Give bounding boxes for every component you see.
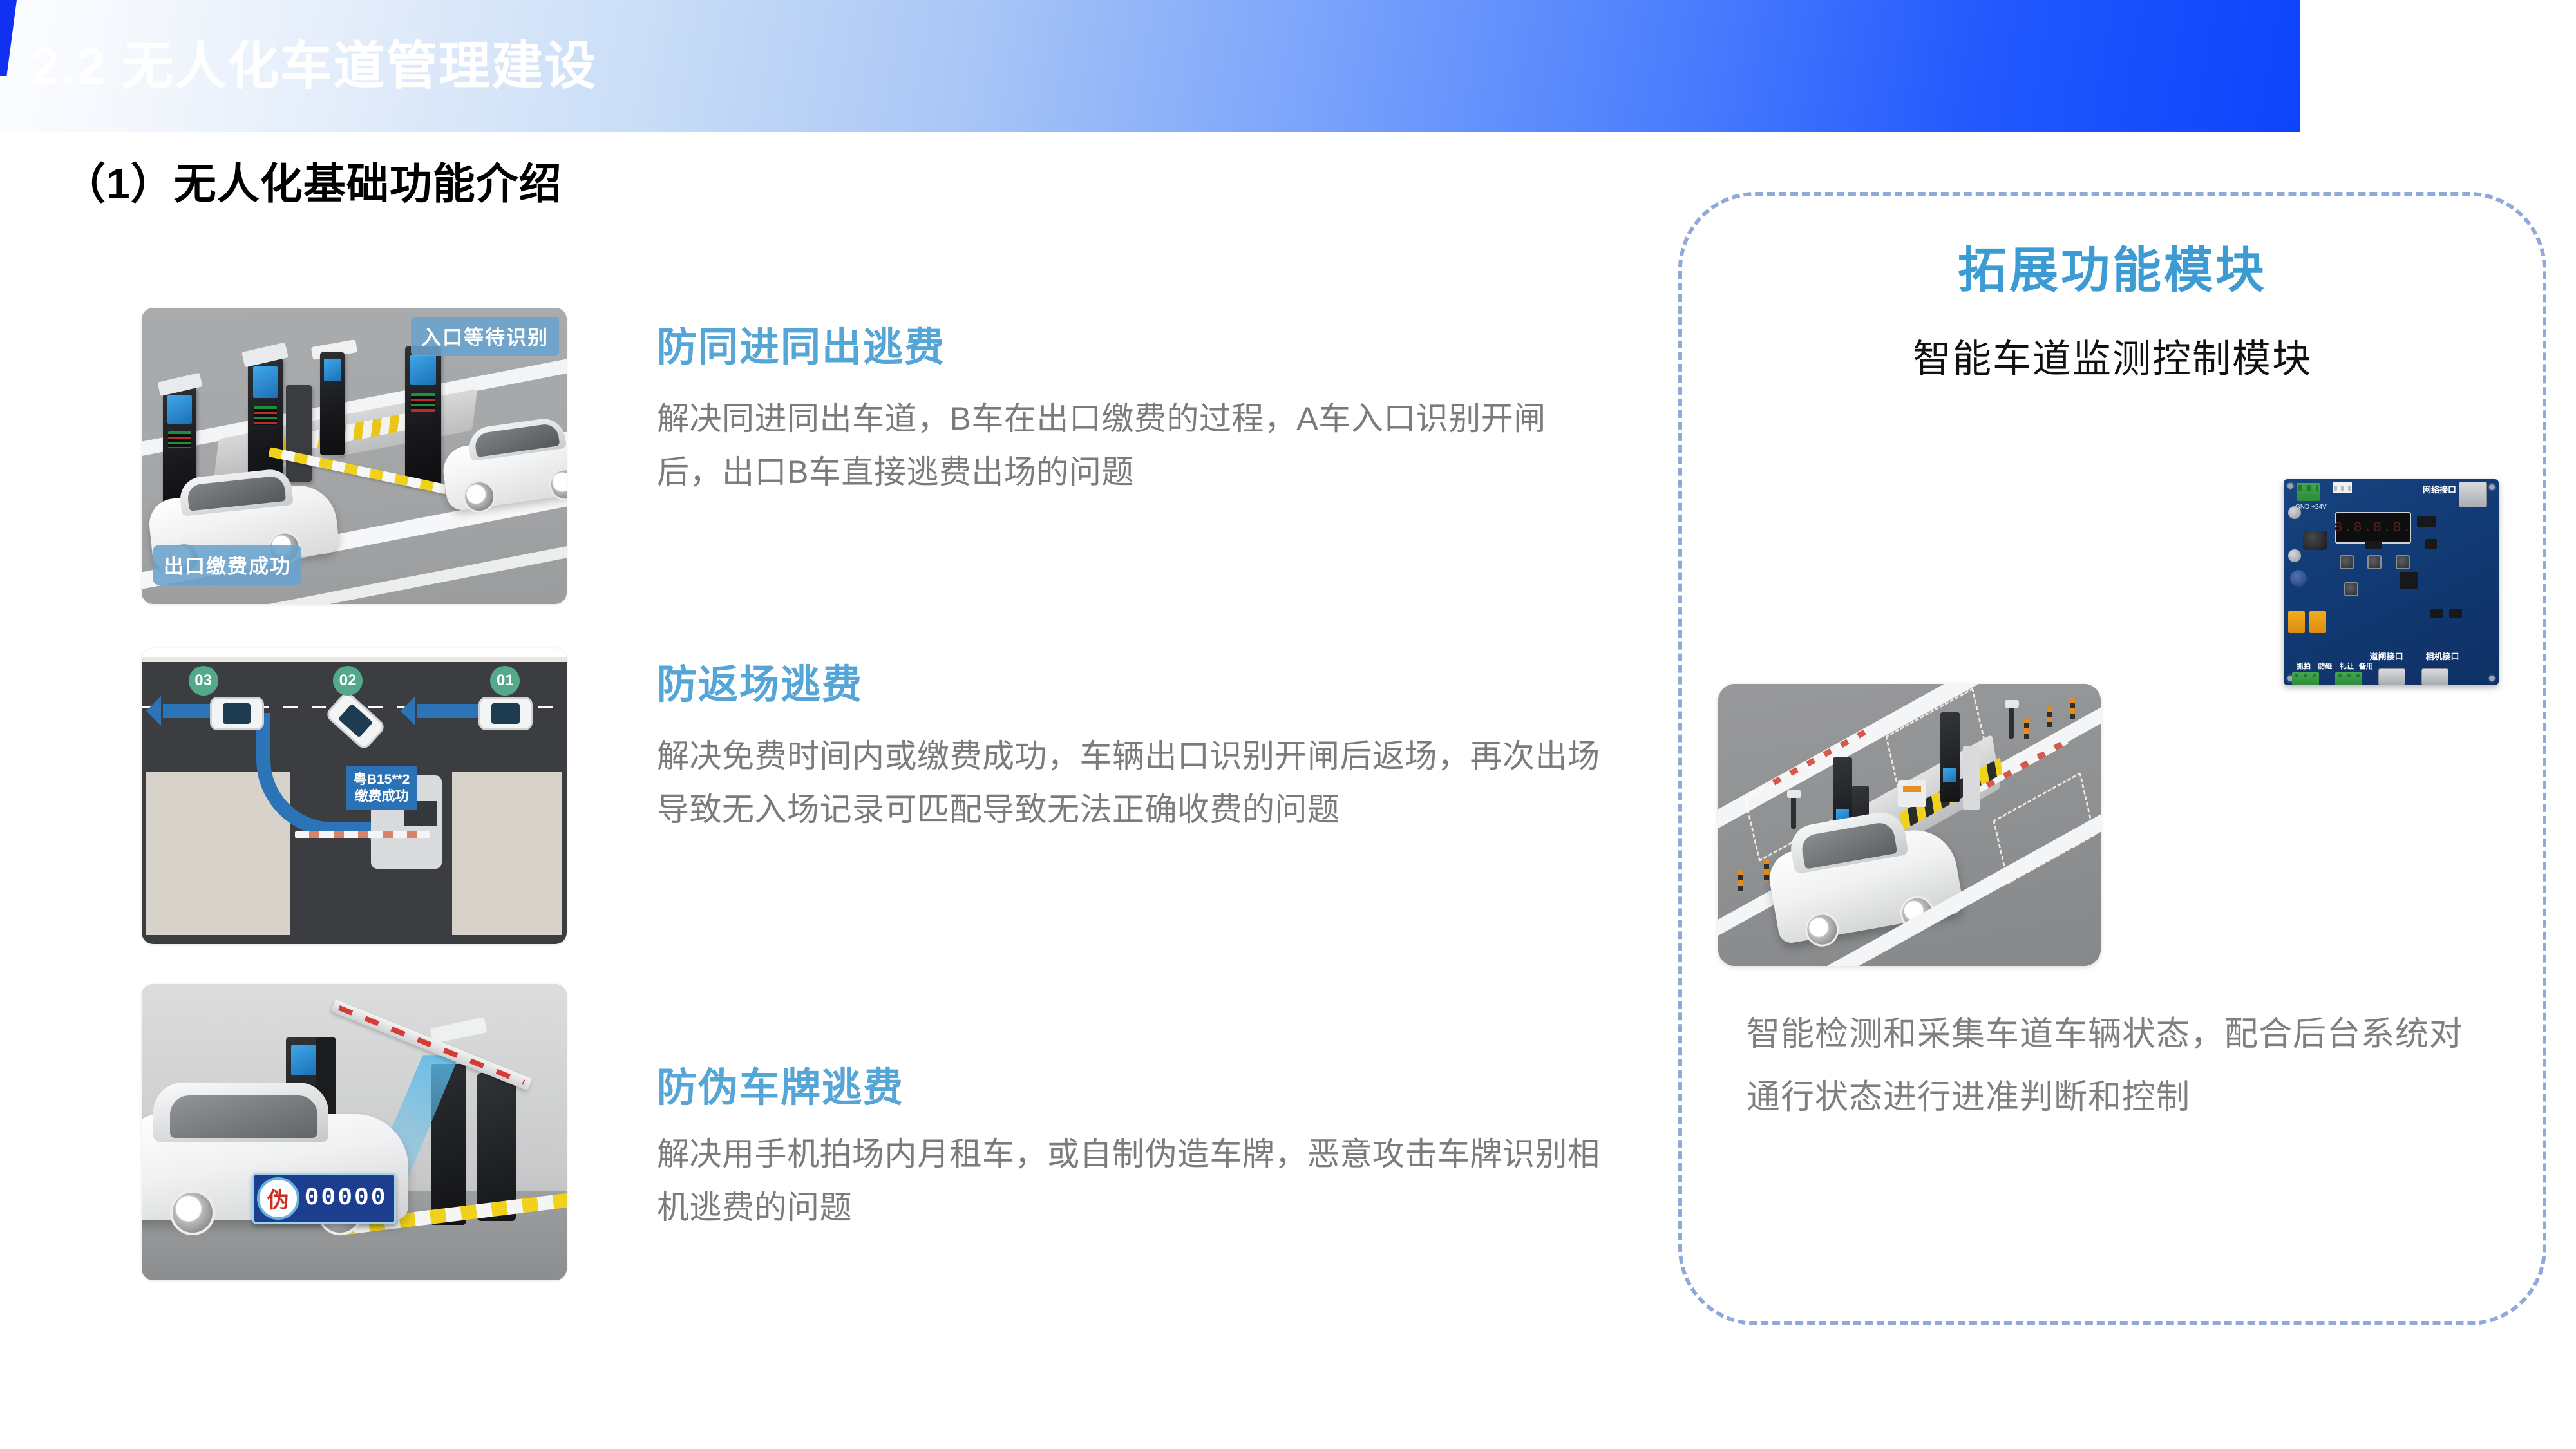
mounting-hole [2287,483,2293,489]
button-down[interactable] [2367,555,2382,569]
electrolytic-capacitor [2288,549,2301,562]
integrated-circuit [2400,572,2418,589]
feature-title: 防同进同出逃费 [657,325,1610,370]
integrated-circuit [2449,609,2462,618]
section-heading: （1）无人化基础功能介绍 [63,149,562,211]
vehicle-topdown [478,697,533,730]
plate-number: 粤B15**2 [354,772,410,787]
extension-panel-title: 拓展功能模块 [1682,231,2543,301]
power-inductor [2303,531,2327,550]
jst-connector [2333,482,2352,493]
silkscreen-yield-label: 礼让 [2340,661,2354,671]
power-terminal-block [2297,483,2320,501]
bollard [2047,706,2052,728]
step-badge-01: 01 [490,666,520,696]
rj45-jack [2378,668,2405,685]
page-title: 2.2 无人化车道管理建设 [31,9,597,124]
silkscreen-anticrash-label: 防砸 [2318,661,2332,671]
vehicle-topdown [210,697,264,730]
rj45-jack [2459,482,2487,507]
mounting-hole [2489,484,2495,490]
return-to-lot-diagram: 01 02 03 粤B15**2 缴费成功 [142,648,567,944]
integrated-circuit [2430,609,2443,618]
lane-control-board: GND +24V 网络接口 8.8.8.8. 道闸接口 相机接口 抓拍 防砸 礼… [2284,479,2499,685]
feature-list: 入口等待识别 出口缴费成功 防同进同出逃费 解决同进同出车道，B车在出口缴费的过… [142,308,1610,1280]
step-badge-03: 03 [189,666,218,696]
rj45-jack [2421,668,2448,685]
io-terminal-block [2335,672,2362,685]
integrated-circuit [2425,539,2437,549]
mounting-hole [2489,676,2495,681]
page-header-banner: 2.2 无人化车道管理建设 [0,0,2300,132]
silkscreen-spare-label: 备用 [2359,661,2373,671]
extension-panel-subtitle: 智能车道监测控制模块 [1682,328,2543,384]
silkscreen-gate-port-label: 道闸接口 [2370,650,2403,662]
lane-kiosk [405,346,441,485]
button-up[interactable] [2340,555,2354,569]
pole-camera-icon [2009,706,2014,739]
bollard [1738,870,1743,892]
plate-status: 缴费成功 [355,789,409,804]
feature-text-block: 防返场逃费 解决免费时间内或缴费成功，车辆出口识别开闸后返场，再次出场导致无入场… [567,648,1610,836]
entry-exit-lane-photo: 入口等待识别 出口缴费成功 [142,308,567,604]
extension-module-panel: 拓展功能模块 智能车道监测控制模块 GND +24V 网络接口 8.8.8.8.… [1678,192,2546,1325]
silkscreen-snap-label: 抓拍 [2297,661,2311,671]
feature-description: 解决用手机拍场内月租车，或自制伪造车牌，恶意攻击车牌识别相机逃费的问题 [657,1128,1610,1234]
integrated-circuit [2417,516,2436,527]
gate-post [477,1073,516,1221]
smart-lane-scene-photo [1718,684,2101,966]
lane-kiosk [1963,746,1980,810]
silkscreen-network-label: 网络接口 [2423,483,2456,495]
plate-status-label: 粤B15**2 缴费成功 [346,766,418,810]
fake-stamp-icon: 伪 [257,1177,299,1220]
feature-description: 解决免费时间内或缴费成功，车辆出口识别开闸后返场，再次出场导致无入场记录可匹配导… [657,730,1610,836]
feature-title: 防返场逃费 [657,662,1610,708]
fake-license-plate: 伪 00000 [252,1173,396,1224]
pole-camera-icon [1791,797,1796,829]
buzzer [2290,570,2307,587]
fake-plate-photo: 伪 00000 [142,984,567,1280]
image-label-exit: 出口缴费成功 [153,545,301,585]
button-confirm[interactable] [2396,555,2410,569]
barrier-gate-arm [295,831,430,838]
road-edge [142,657,567,662]
lane-kiosk [320,352,345,455]
bollard [2070,698,2075,720]
image-label-entry: 入口等待识别 [411,317,559,356]
bollard [1764,859,1769,881]
silkscreen-camera-port-label: 相机接口 [2425,650,2459,662]
button-reset[interactable] [2344,582,2358,596]
lane-kiosk [286,385,312,482]
electrolytic-capacitor [2288,506,2301,519]
feature-item: 01 02 03 粤B15**2 缴费成功 防返场逃费 解决免费时间内或缴费成功… [142,648,1610,944]
relay [2309,611,2326,633]
extension-panel-description: 智能检测和采集车道车辆状态，配合后台系统对通行状态进行进准判断和控制 [1747,1003,2487,1130]
step-badge-02: 02 [333,666,363,696]
feature-item: 伪 00000 防伪车牌逃费 解决用手机拍场内月租车，或自制伪造车牌，恶意攻击车… [142,984,1610,1280]
seven-segment-display: 8.8.8.8. [2335,512,2411,544]
header-accent-wedge [0,0,17,76]
building-block [452,772,563,935]
relay [2288,611,2305,633]
info-sign [1898,780,1926,807]
lane-kiosk [1940,712,1960,802]
io-terminal-block [2292,672,2319,685]
feature-item: 入口等待识别 出口缴费成功 防同进同出逃费 解决同进同出车道，B车在出口缴费的过… [142,308,1610,604]
feature-text-block: 防伪车牌逃费 解决用手机拍场内月租车，或自制伪造车牌，恶意攻击车牌识别相机逃费的… [567,984,1610,1234]
feature-text-block: 防同进同出逃费 解决同进同出车道，B车在出口缴费的过程，A车入口识别开闸后，出口… [567,308,1610,498]
integrated-circuit [2365,541,2382,549]
feature-title: 防伪车牌逃费 [657,1065,1610,1111]
plate-number: 00000 [305,1184,388,1212]
feature-description: 解决同进同出车道，B车在出口缴费的过程，A车入口识别开闸后，出口B车直接逃费出场… [657,392,1610,498]
bollard [2024,718,2029,740]
